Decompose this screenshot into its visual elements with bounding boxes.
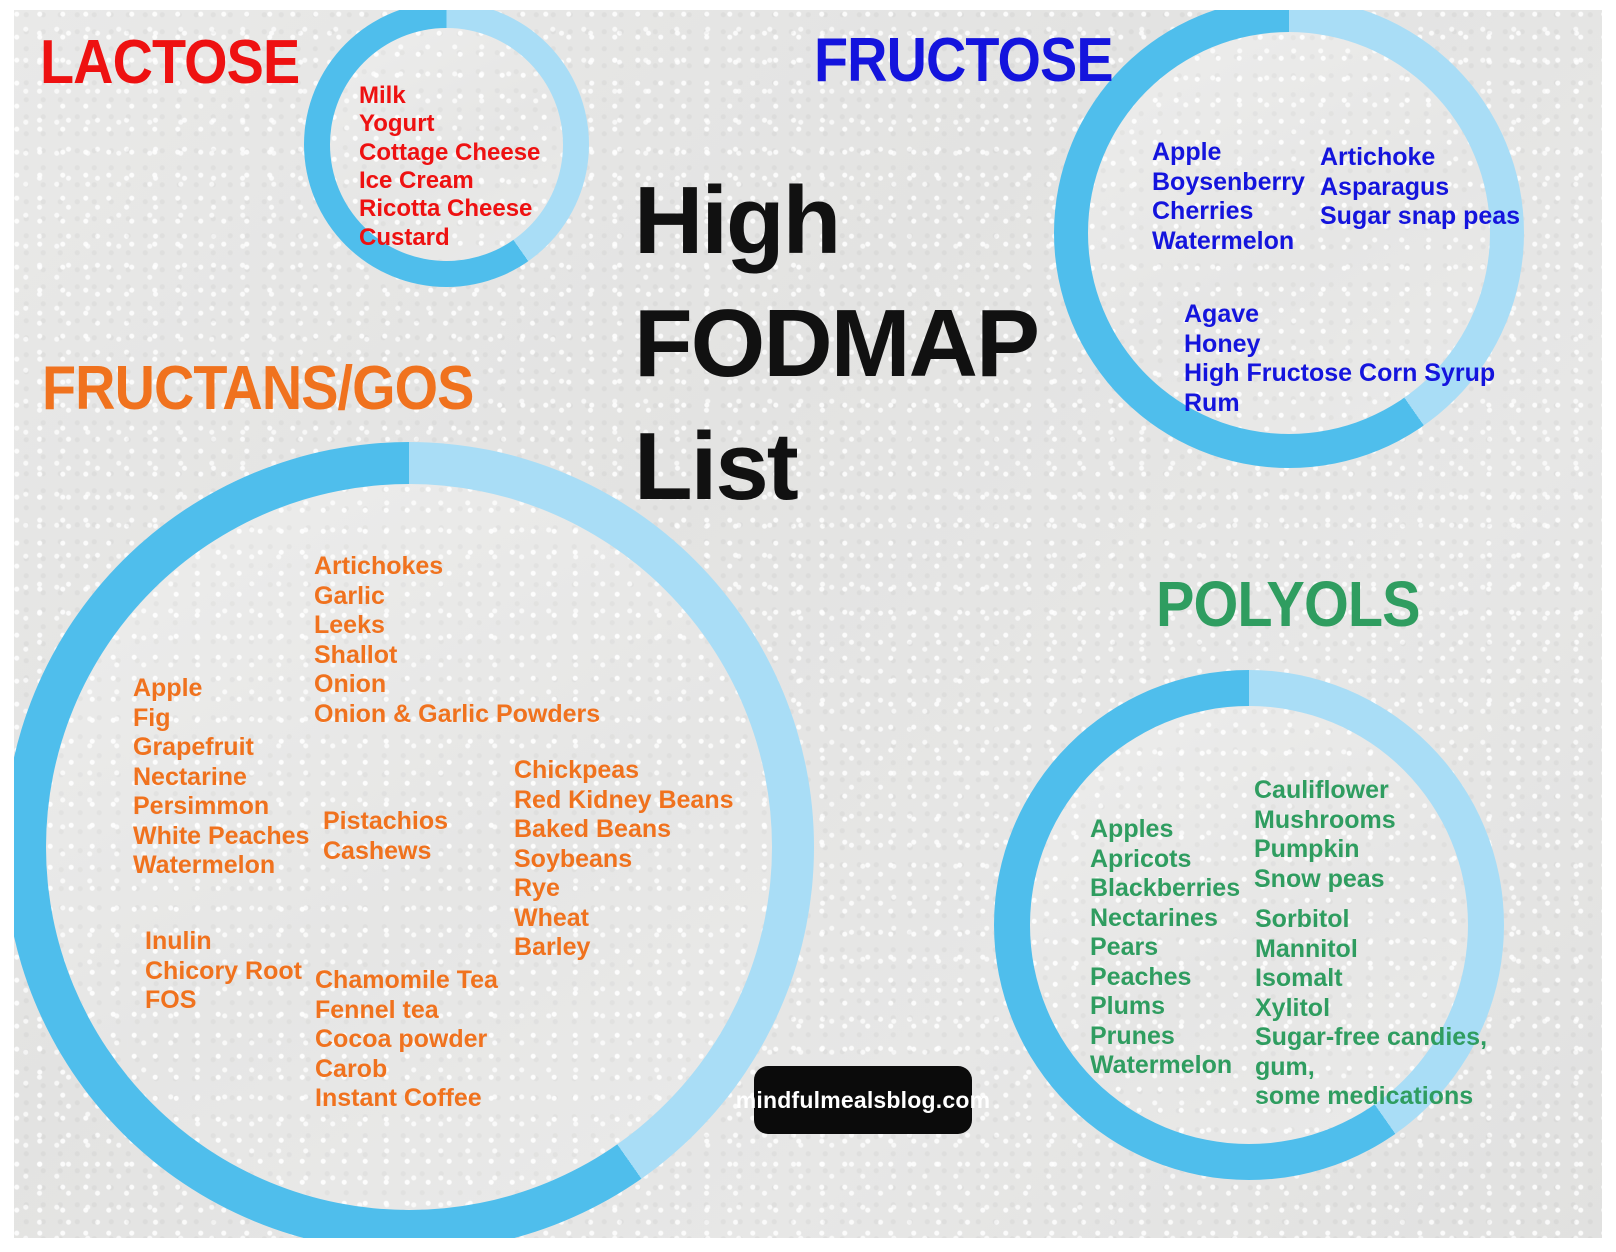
fructans-list-column-beverages: Chamomile Tea Fennel tea Cocoa powder Ca… <box>315 966 498 1114</box>
lactose-list-column-1: Milk Yogurt Cottage Cheese Ice Cream Ric… <box>359 82 540 252</box>
fructose-list-column-2: Artichoke Asparagus Sugar snap peas <box>1320 143 1520 232</box>
list-item: Grapefruit <box>133 733 309 763</box>
list-item: Chicory Root <box>145 957 302 987</box>
list-item: Pears <box>1090 933 1240 963</box>
list-item: Baked Beans <box>514 815 734 845</box>
list-item: Peaches <box>1090 963 1240 993</box>
list-item: Boysenberry <box>1152 168 1305 198</box>
list-item: Xylitol <box>1255 994 1487 1024</box>
list-item: Apples <box>1090 815 1240 845</box>
list-item: Plums <box>1090 992 1240 1022</box>
list-item: Garlic <box>314 582 600 612</box>
list-item: Sugar snap peas <box>1320 202 1520 232</box>
list-item: White Peaches <box>133 822 309 852</box>
list-item: Blackberries <box>1090 874 1240 904</box>
list-item: gum, <box>1255 1053 1487 1083</box>
list-item: Ice Cream <box>359 167 540 195</box>
list-item: Persimmon <box>133 792 309 822</box>
page-title-line-2: FODMAP <box>634 283 1038 406</box>
list-item: Onion & Garlic Powders <box>314 700 600 730</box>
lactose-heading: LACTOSE <box>40 32 299 94</box>
list-item: Watermelon <box>133 851 309 881</box>
list-item: Leeks <box>314 611 600 641</box>
list-item: Snow peas <box>1254 865 1396 895</box>
fructans-heading: FRUCTANS/GOS <box>42 358 473 420</box>
list-item: Cottage Cheese <box>359 139 540 167</box>
list-item: Nectarines <box>1090 904 1240 934</box>
list-item: Nectarine <box>133 763 309 793</box>
list-item: Mannitol <box>1255 935 1487 965</box>
page-title: High FODMAP List <box>634 160 1038 529</box>
fructans-list-column-vegetables: Artichokes Garlic Leeks Shallot Onion On… <box>314 552 600 729</box>
infographic-frame: LACTOSE Milk Yogurt Cottage Cheese Ice C… <box>0 0 1616 1252</box>
watermark-badge[interactable]: mindfulmealsblog.com <box>754 1066 972 1134</box>
list-item: Apple <box>1152 138 1305 168</box>
list-item: Inulin <box>145 927 302 957</box>
list-item: Asparagus <box>1320 173 1520 203</box>
list-item: Isomalt <box>1255 964 1487 994</box>
page-title-line-1: High <box>634 160 1038 283</box>
list-item: Sorbitol <box>1255 905 1487 935</box>
list-item: Mushrooms <box>1254 806 1396 836</box>
list-item: Yogurt <box>359 110 540 138</box>
list-item: Artichokes <box>314 552 600 582</box>
list-item: Fig <box>133 704 309 734</box>
list-item: Rum <box>1184 389 1495 419</box>
fructans-list-column-nuts: Pistachios Cashews <box>323 807 448 866</box>
list-item: Honey <box>1184 330 1495 360</box>
list-item: Barley <box>514 933 734 963</box>
fructans-list-column-additives: Inulin Chicory Root FOS <box>145 927 302 1016</box>
list-item: Custard <box>359 224 540 252</box>
list-item: High Fructose Corn Syrup <box>1184 359 1495 389</box>
list-item: Cashews <box>323 837 448 867</box>
polyols-list-column-fruits: Apples Apricots Blackberries Nectarines … <box>1090 815 1240 1081</box>
list-item: Shallot <box>314 641 600 671</box>
fructose-list-column-1: Apple Boysenberry Cherries Watermelon <box>1152 138 1305 256</box>
list-item: Apricots <box>1090 845 1240 875</box>
list-item: Apple <box>133 674 309 704</box>
fructose-heading: FRUCTOSE <box>814 30 1113 92</box>
list-item: Chickpeas <box>514 756 734 786</box>
list-item: Rye <box>514 874 734 904</box>
list-item: Watermelon <box>1090 1051 1240 1081</box>
list-item: FOS <box>145 986 302 1016</box>
list-item: Chamomile Tea <box>315 966 498 996</box>
list-item: Carob <box>315 1055 498 1085</box>
list-item: Watermelon <box>1152 227 1305 257</box>
list-item: some medications <box>1255 1082 1487 1112</box>
list-item: Prunes <box>1090 1022 1240 1052</box>
list-item: Artichoke <box>1320 143 1520 173</box>
list-item: Onion <box>314 670 600 700</box>
polyols-list-column-vegetables: Cauliflower Mushrooms Pumpkin Snow peas <box>1254 776 1396 894</box>
list-item: Cocoa powder <box>315 1025 498 1055</box>
fructose-list-column-3: Agave Honey High Fructose Corn Syrup Rum <box>1184 300 1495 418</box>
list-item: Sugar-free candies, <box>1255 1023 1487 1053</box>
page-title-line-3: List <box>634 406 1038 529</box>
infographic-canvas: LACTOSE Milk Yogurt Cottage Cheese Ice C… <box>14 10 1602 1238</box>
polyols-heading: POLYOLS <box>1156 572 1420 636</box>
list-item: Ricotta Cheese <box>359 195 540 223</box>
fructans-list-column-legumes-grains: Chickpeas Red Kidney Beans Baked Beans S… <box>514 756 734 963</box>
polyols-list-column-sweeteners: Sorbitol Mannitol Isomalt Xylitol Sugar-… <box>1255 905 1487 1112</box>
list-item: Pistachios <box>323 807 448 837</box>
list-item: Red Kidney Beans <box>514 786 734 816</box>
list-item: Pumpkin <box>1254 835 1396 865</box>
list-item: Cherries <box>1152 197 1305 227</box>
list-item: Milk <box>359 82 540 110</box>
list-item: Fennel tea <box>315 996 498 1026</box>
list-item: Wheat <box>514 904 734 934</box>
list-item: Agave <box>1184 300 1495 330</box>
list-item: Cauliflower <box>1254 776 1396 806</box>
list-item: Instant Coffee <box>315 1084 498 1114</box>
fructans-list-column-fruits: Apple Fig Grapefruit Nectarine Persimmon… <box>133 674 309 881</box>
list-item: Soybeans <box>514 845 734 875</box>
